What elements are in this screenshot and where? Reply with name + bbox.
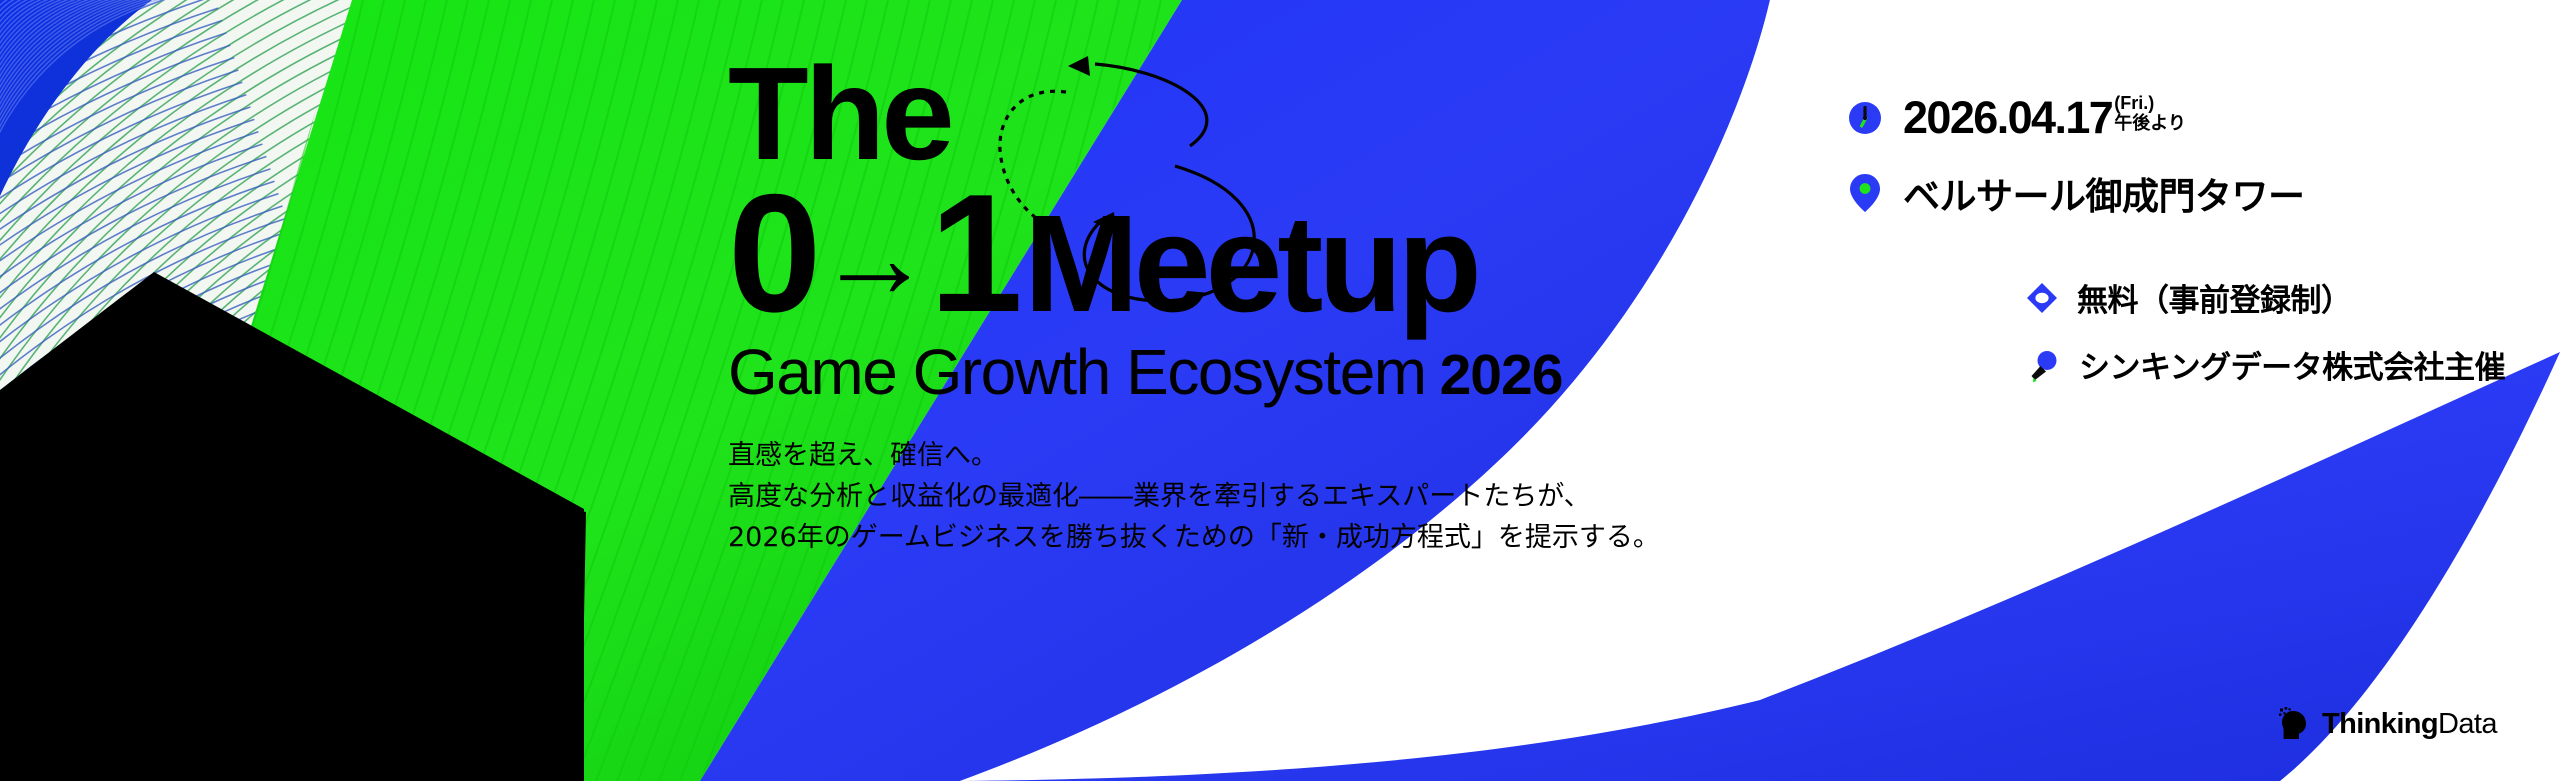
thinkingdata-logo: ThinkingData [2279,707,2497,741]
info-row-host: シンキングデータ株式会社主催 [2025,342,2505,387]
logo-data: Data [2438,708,2497,740]
lede-line-1: 直感を超え、確信へ。 [728,435,1748,476]
headline-the: The [728,52,1748,176]
event-start-time: 午後より [2114,113,2186,134]
event-fee: 無料（事前登録制） [2077,275,2352,320]
headline-zero-to-one: 0 → 1 Meetup [728,178,1748,329]
lede-line-2: 高度な分析と収益化の最適化――業界を牽引するエキスパートたちが、 [728,476,1748,517]
logo-wordmark: ThinkingData [2322,708,2497,741]
black-bottom-bar [0,672,584,781]
event-venue: ベルサール御成門タワー [1903,166,2305,220]
event-day-of-week: (Fri.) [2114,93,2154,113]
event-host: シンキングデータ株式会社主催 [2079,342,2505,387]
event-date: 2026.04.17 [1903,92,2112,143]
lede-paragraph: 直感を超え、確信へ。 高度な分析と収益化の最適化――業界を牽引するエキスパートた… [728,435,1748,558]
headline-block: The 0 → 1 Meetup Game Growth Ecosystem 2… [728,52,1748,558]
date-suffix-group: (Fri.)午後より [2114,94,2186,134]
lede-line-3: 2026年のゲームビジネスを勝ち抜くための「新・成功方程式」を提示する。 [728,517,1748,558]
info-row-fee: 無料（事前登録制） [2025,275,2505,320]
event-meta-panel: 無料（事前登録制） シンキングデータ株式会社主催 [2025,275,2505,387]
headline-zero: 0 [728,178,816,329]
headline-subtitle: Game Growth Ecosystem 2026 [728,335,1748,409]
subtitle-text: Game Growth Ecosystem [728,335,1426,409]
info-row-venue: ベルサール御成門タワー [1845,166,2305,220]
headline-meetup: Meetup [1024,202,1477,326]
date-text-group: 2026.04.17(Fri.)午後より [1903,92,2186,144]
info-row-date: 2026.04.17(Fri.)午後より [1845,92,2305,144]
headline-one: 1 [929,178,1017,329]
thinking-head-icon [2279,707,2315,741]
event-banner: The 0 → 1 Meetup Game Growth Ecosystem 2… [0,0,2560,781]
ticket-diamond-icon [2025,281,2059,315]
event-info-panel: 2026.04.17(Fri.)午後より ベルサール御成門タワー [1845,92,2305,220]
microphone-icon [2025,347,2061,383]
subtitle-year: 2026 [1440,342,1563,408]
map-pin-icon [1845,171,1885,215]
logo-thinking: Thinking [2322,708,2438,740]
arrow-right-icon: → [816,205,927,309]
clock-icon [1845,98,1885,138]
